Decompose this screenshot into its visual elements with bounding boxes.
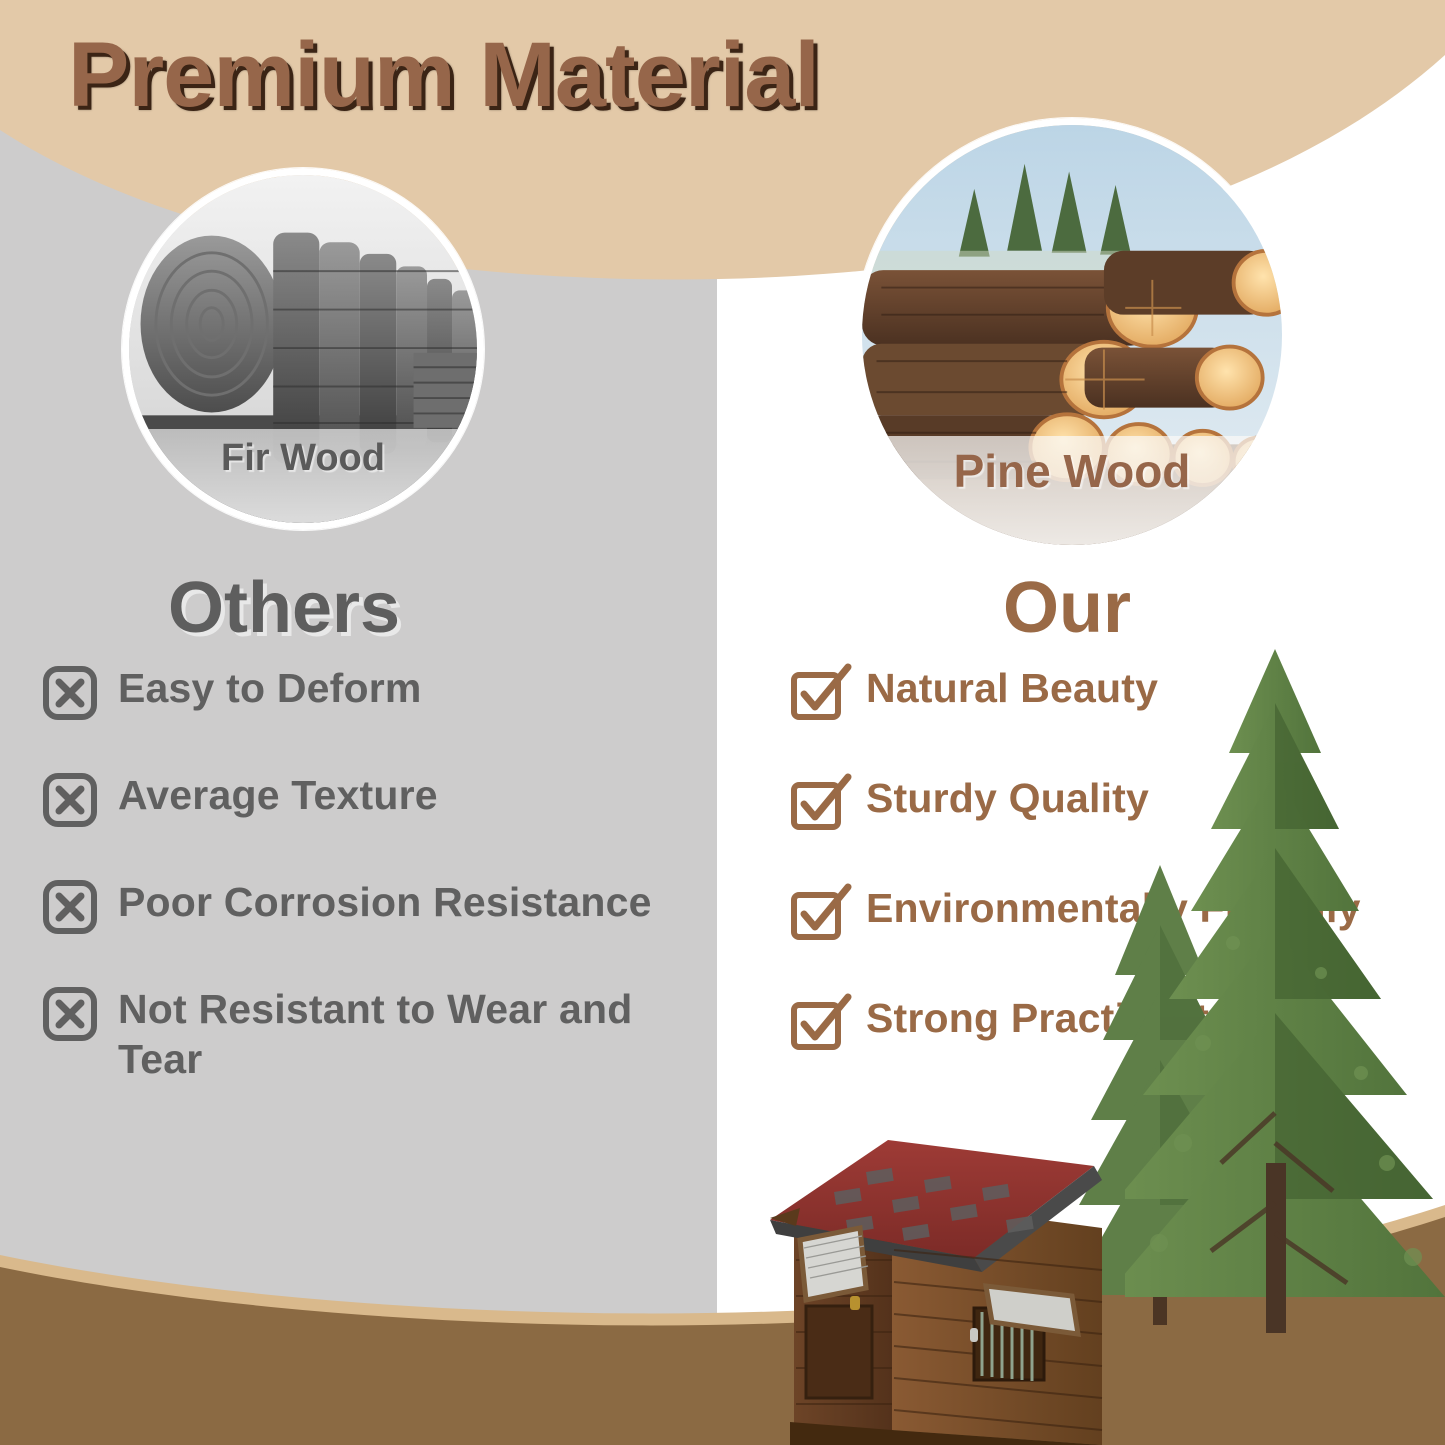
x-box-icon	[42, 879, 98, 935]
check-box-icon	[790, 885, 846, 941]
check-box-icon	[790, 665, 846, 721]
pine-wood-caption: Pine Wood	[862, 436, 1282, 545]
list-item: Natural Beauty	[790, 663, 1445, 721]
premium-material-poster: Premium Material	[0, 0, 1445, 1445]
list-item-label: Average Texture	[118, 770, 438, 820]
x-box-icon	[42, 986, 98, 1042]
list-item: Strong Practicality	[790, 993, 1445, 1051]
list-item: Average Texture	[42, 770, 732, 828]
x-box-icon	[42, 772, 98, 828]
fir-wood-circle: Fir Wood	[122, 168, 484, 530]
list-item: Sturdy Quality	[790, 773, 1445, 831]
list-item: Not Resistant to Wear and Tear	[42, 984, 732, 1084]
list-item: Environmentally Friendly	[790, 883, 1445, 941]
fir-wood-caption: Fir Wood	[129, 429, 477, 523]
list-item-label: Environmentally Friendly	[866, 883, 1361, 933]
others-list: Easy to Deform Average Texture Poor Corr…	[42, 663, 732, 1133]
our-heading: Our	[1003, 567, 1131, 649]
others-heading: Others	[168, 567, 400, 649]
wooden-dog-house-image	[742, 1100, 1262, 1445]
check-box-icon	[790, 995, 846, 1051]
list-item: Poor Corrosion Resistance	[42, 877, 732, 935]
pine-wood-circle: Pine Wood	[855, 118, 1289, 552]
list-item: Easy to Deform	[42, 663, 732, 721]
check-box-icon	[790, 775, 846, 831]
x-box-icon	[42, 665, 98, 721]
our-list: Natural Beauty Sturdy Quality Environmen…	[790, 663, 1445, 1103]
list-item-label: Natural Beauty	[866, 663, 1158, 713]
list-item-label: Easy to Deform	[118, 663, 422, 713]
list-item-label: Poor Corrosion Resistance	[118, 877, 652, 927]
list-item-label: Sturdy Quality	[866, 773, 1149, 823]
list-item-label: Not Resistant to Wear and Tear	[118, 984, 638, 1084]
list-item-label: Strong Practicality	[866, 993, 1232, 1043]
page-title: Premium Material	[68, 23, 819, 128]
